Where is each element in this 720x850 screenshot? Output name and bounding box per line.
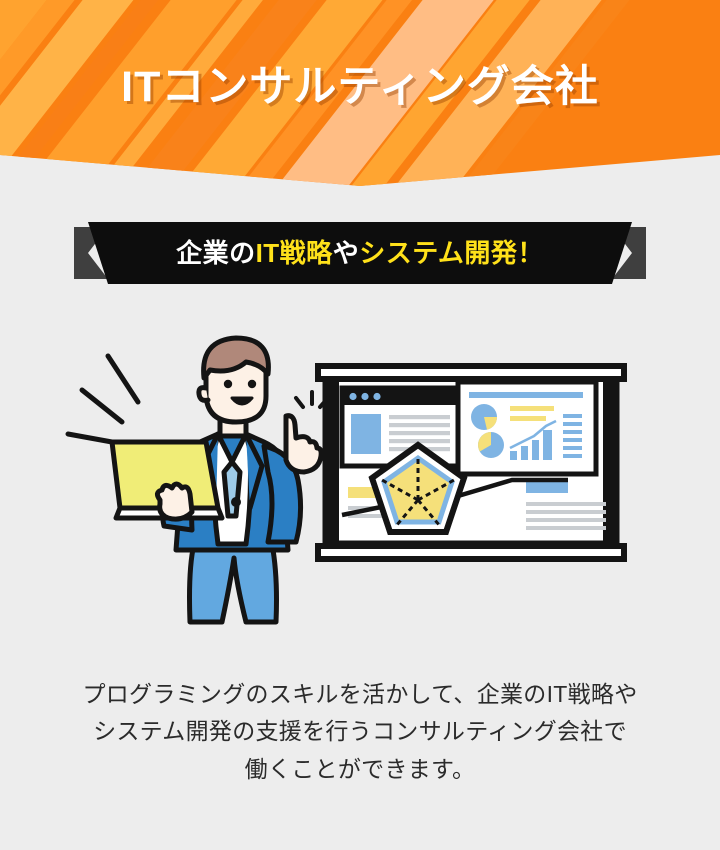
businessman-figure [112, 338, 321, 622]
page-root: ITコンサルティング会社 企業のIT戦略やシステム開発！ [0, 0, 720, 850]
window-dot-icon [373, 393, 380, 400]
illustration-svg [60, 330, 660, 650]
pie-chart-2 [478, 432, 504, 458]
description-text: プログラミングのスキルを活かして、企業のIT戦略や システム開発の支援を行うコン… [28, 676, 692, 788]
ribbon-text-segment: IT戦略 [256, 238, 333, 268]
ribbon-text-segment: システム開発！ [359, 238, 544, 268]
ribbon-band: 企業のIT戦略やシステム開発！ [88, 222, 632, 284]
window-dot-icon [349, 393, 356, 400]
pie-chart-1 [471, 404, 497, 430]
panel-header-bar [469, 392, 583, 398]
page-title: ITコンサルティング会社 [0, 52, 720, 114]
illustration [60, 330, 660, 650]
emphasis-lines-icon [68, 356, 138, 442]
dashboard-panel [458, 382, 596, 474]
ribbon-text-segment: 企業の [176, 238, 256, 268]
description-line: 働くことができます。 [28, 751, 692, 788]
ribbon-text: 企業のIT戦略やシステム開発！ [176, 240, 544, 266]
ribbon-banner: 企業のIT戦略やシステム開発！ [74, 222, 646, 284]
page-header: ITコンサルティング会社 [0, 0, 720, 190]
description-line: プログラミングのスキルを活かして、企業のIT戦略や [28, 676, 692, 713]
description-line: システム開発の支援を行うコンサルティング会社で [28, 713, 692, 750]
presentation-screen [318, 366, 624, 559]
ribbon-text-segment: や [333, 238, 360, 268]
blue-block [526, 482, 568, 493]
window-dot-icon [361, 393, 368, 400]
image-placeholder [351, 414, 381, 454]
